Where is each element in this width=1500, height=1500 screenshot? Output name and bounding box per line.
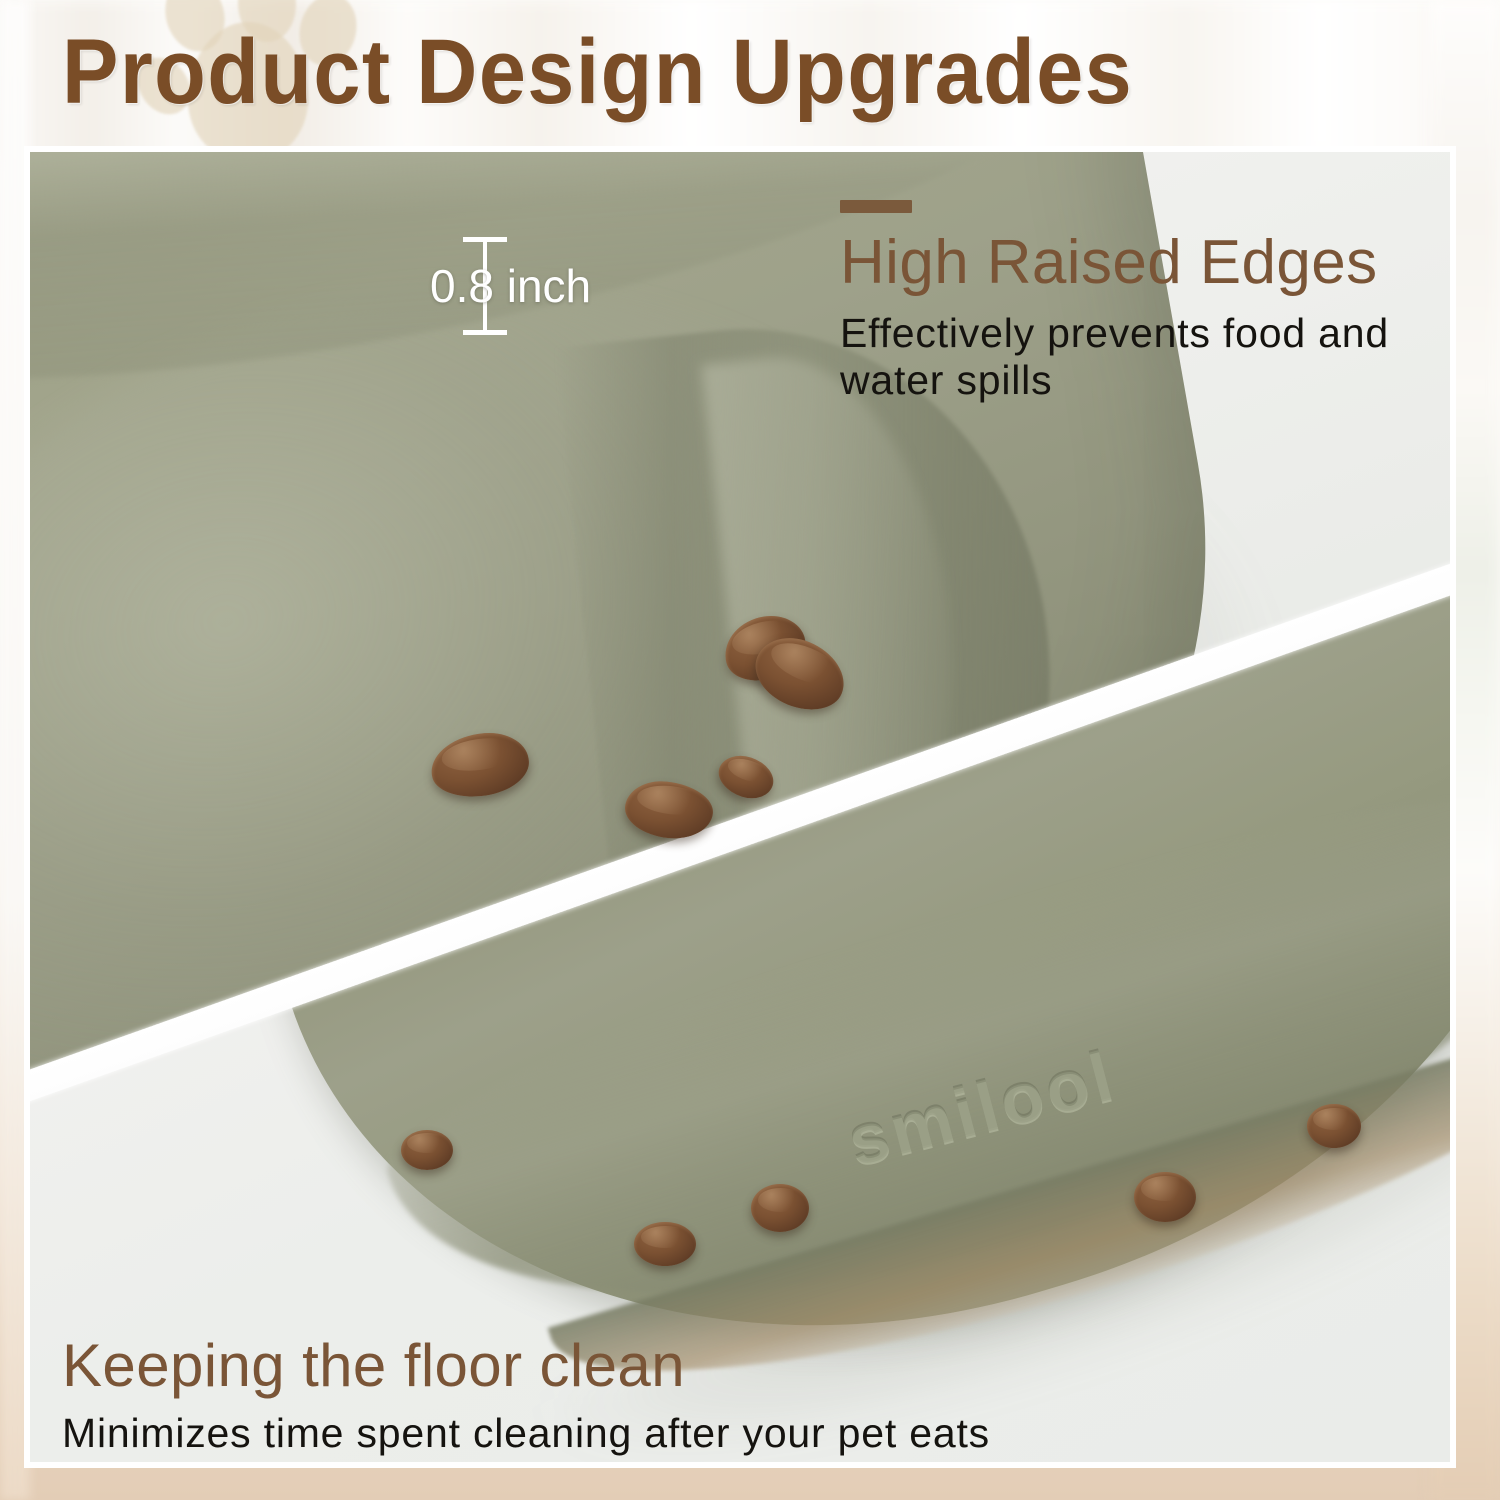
feature-block-keeping-floor-clean: Keeping the floor clean Minimizes time s… [62, 1332, 990, 1456]
feature-body-high-raised-edges: Effectively prevents food and water spil… [840, 310, 1500, 404]
feature-rule-high-raised-edges [840, 200, 912, 213]
dimension-cap-top [463, 237, 507, 242]
feature-body-keeping-floor-clean: Minimizes time spent cleaning after your… [62, 1410, 990, 1456]
poster-canvas: Product Design Upgrades smilool [0, 0, 1500, 1500]
dimension-label: 0.8 inch [430, 260, 591, 312]
feature-heading-high-raised-edges: High Raised Edges [840, 228, 1500, 298]
page-title: Product Design Upgrades [62, 16, 1341, 128]
dimension-cap-bottom [463, 330, 507, 335]
feature-heading-keeping-floor-clean: Keeping the floor clean [62, 1332, 990, 1400]
title-band: Product Design Upgrades [0, 0, 1500, 146]
feature-block-high-raised-edges: High Raised Edges Effectively prevents f… [840, 228, 1500, 404]
